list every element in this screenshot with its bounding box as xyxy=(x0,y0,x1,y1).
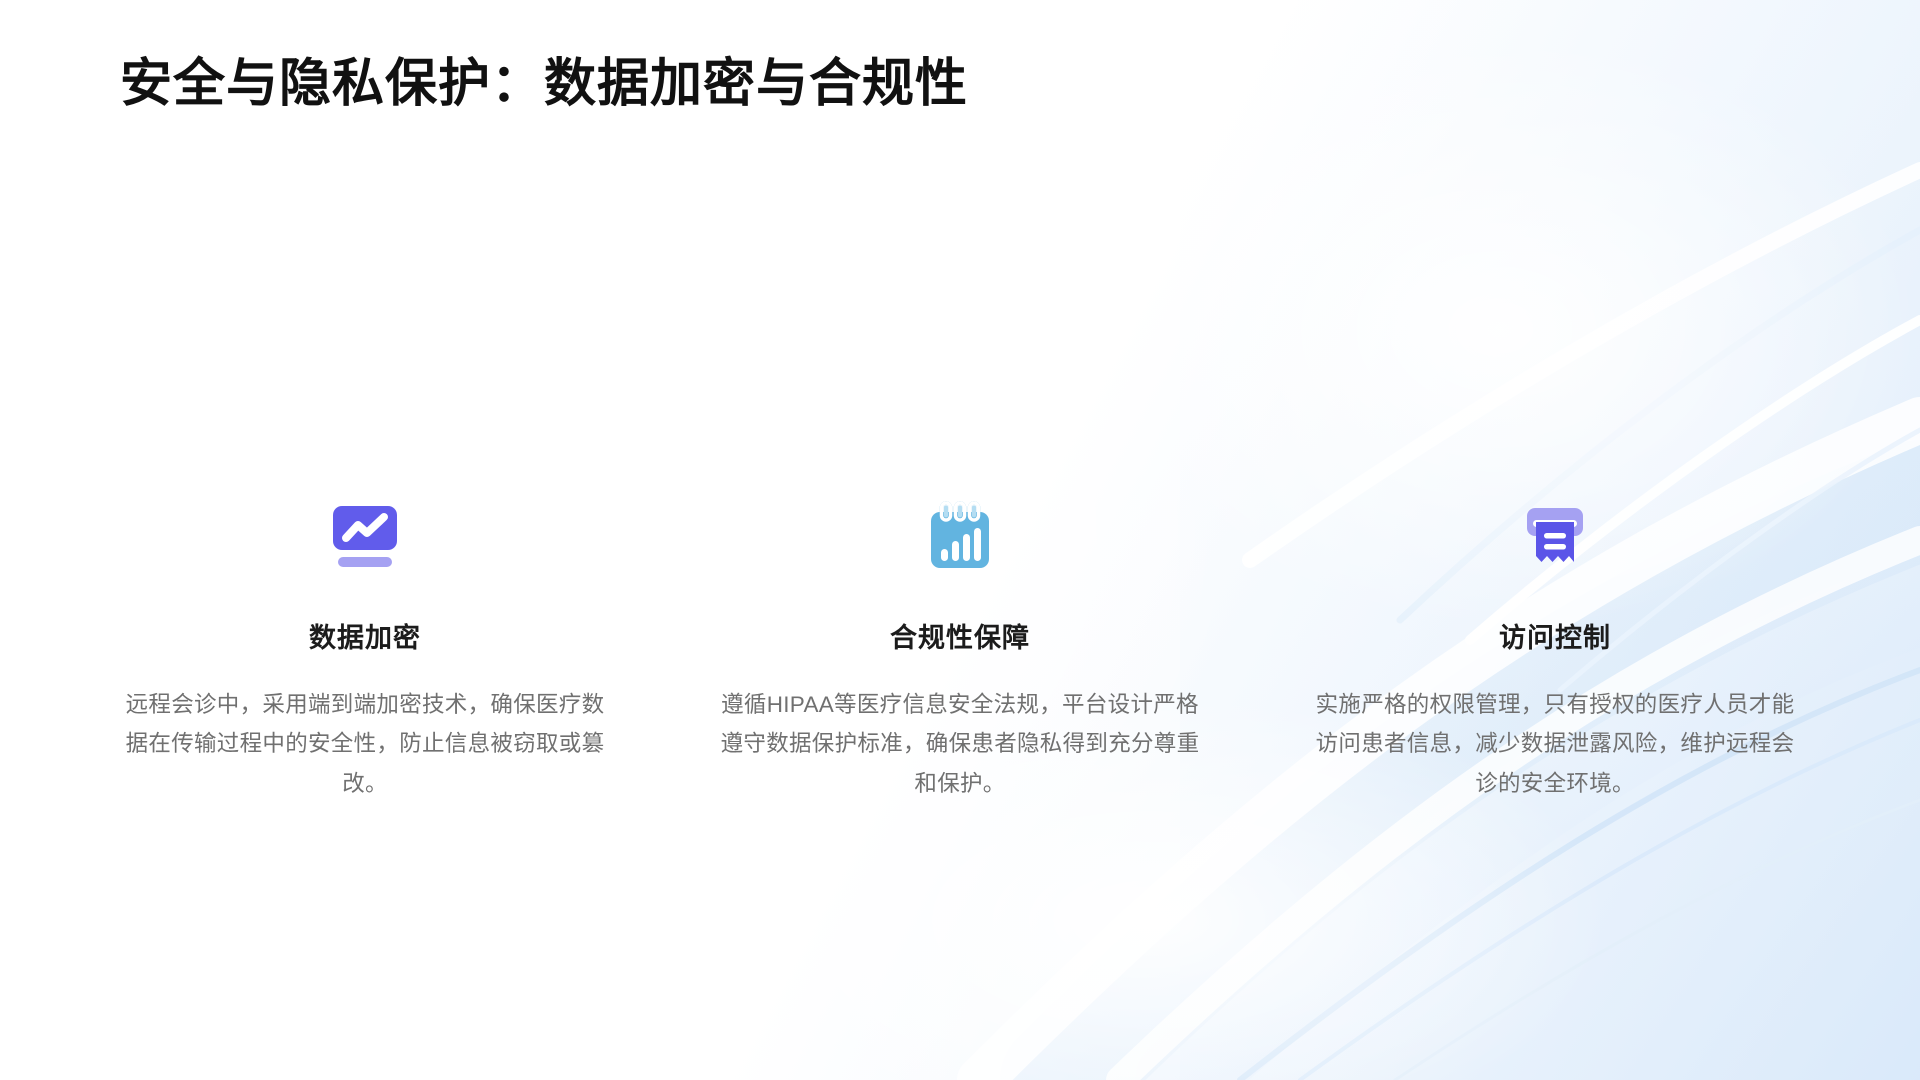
feature-card-data-encryption[interactable]: 数据加密 远程会诊中，采用端到端加密技术，确保医疗数据在传输过程中的安全性，防止… xyxy=(120,500,610,803)
notepad-bar-chart-icon xyxy=(924,500,996,572)
feature-card-title: 访问控制 xyxy=(1499,616,1611,655)
feature-card-description: 远程会诊中，采用端到端加密技术，确保医疗数据在传输过程中的安全性，防止信息被窃取… xyxy=(122,685,609,803)
feature-card-title: 数据加密 xyxy=(309,616,421,655)
feature-card-description: 实施严格的权限管理，只有授权的医疗人员才能访问患者信息，减少数据泄露风险，维护远… xyxy=(1315,685,1795,803)
receipt-print-icon xyxy=(1519,500,1591,572)
feature-card-description: 遵循HIPAA等医疗信息安全法规，平台设计严格遵守数据保护标准，确保患者隐私得到… xyxy=(720,685,1200,803)
chart-trend-icon xyxy=(329,500,401,572)
feature-card-access-control[interactable]: 访问控制 实施严格的权限管理，只有授权的医疗人员才能访问患者信息，减少数据泄露风… xyxy=(1310,500,1800,803)
feature-cards-row: 数据加密 远程会诊中，采用端到端加密技术，确保医疗数据在传输过程中的安全性，防止… xyxy=(120,500,1800,803)
feature-card-compliance[interactable]: 合规性保障 遵循HIPAA等医疗信息安全法规，平台设计严格遵守数据保护标准，确保… xyxy=(715,500,1205,803)
page-title: 安全与隐私保护：数据加密与合规性 xyxy=(120,52,968,117)
feature-card-title: 合规性保障 xyxy=(890,616,1030,655)
